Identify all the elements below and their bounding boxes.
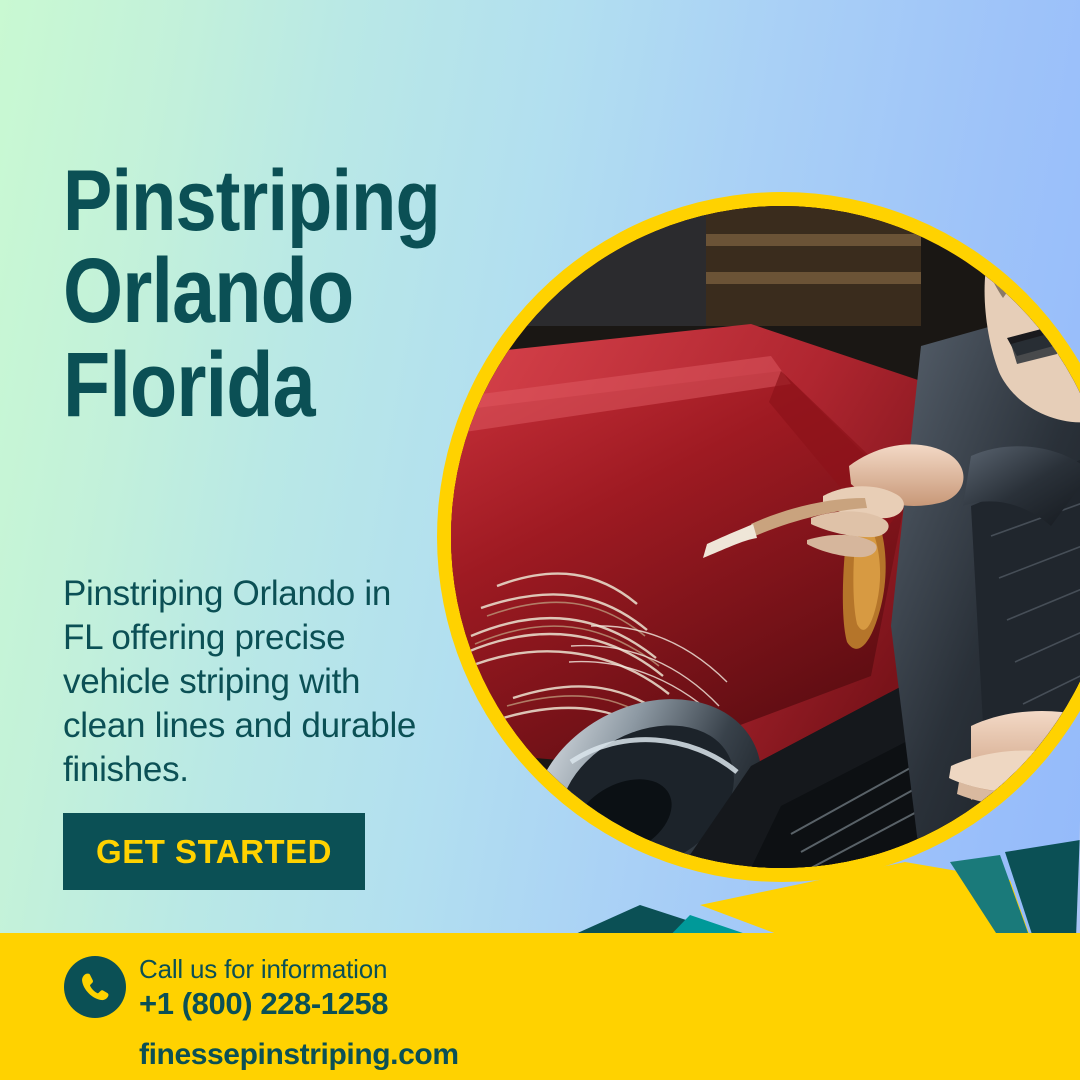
website-url[interactable]: finessepinstriping.com	[139, 1037, 459, 1073]
headline-group: Pinstriping Orlando Florida	[63, 160, 463, 430]
footer-contact-text: Call us for information +1 (800) 228-125…	[139, 955, 459, 1073]
contact-footer-bar: Call us for information +1 (800) 228-125…	[0, 933, 1080, 1080]
call-us-label: Call us for information	[139, 955, 459, 984]
headline-line-3: Florida	[63, 341, 399, 430]
description-text: Pinstriping Orlando in FL offering preci…	[63, 572, 423, 792]
hero-photo-illustration	[451, 206, 1080, 868]
phone-number[interactable]: +1 (800) 228-1258	[139, 985, 459, 1022]
phone-icon	[78, 970, 112, 1004]
headline-line-1: Pinstriping	[63, 160, 407, 243]
phone-icon-badge	[64, 956, 126, 1018]
hero-photo	[451, 206, 1080, 868]
headline-line-2: Orlando	[63, 247, 399, 336]
get-started-button[interactable]: GET STARTED	[63, 813, 365, 890]
poster-canvas: Call us for information +1 (800) 228-125…	[0, 0, 1080, 1080]
hero-photo-ring	[437, 192, 1080, 882]
